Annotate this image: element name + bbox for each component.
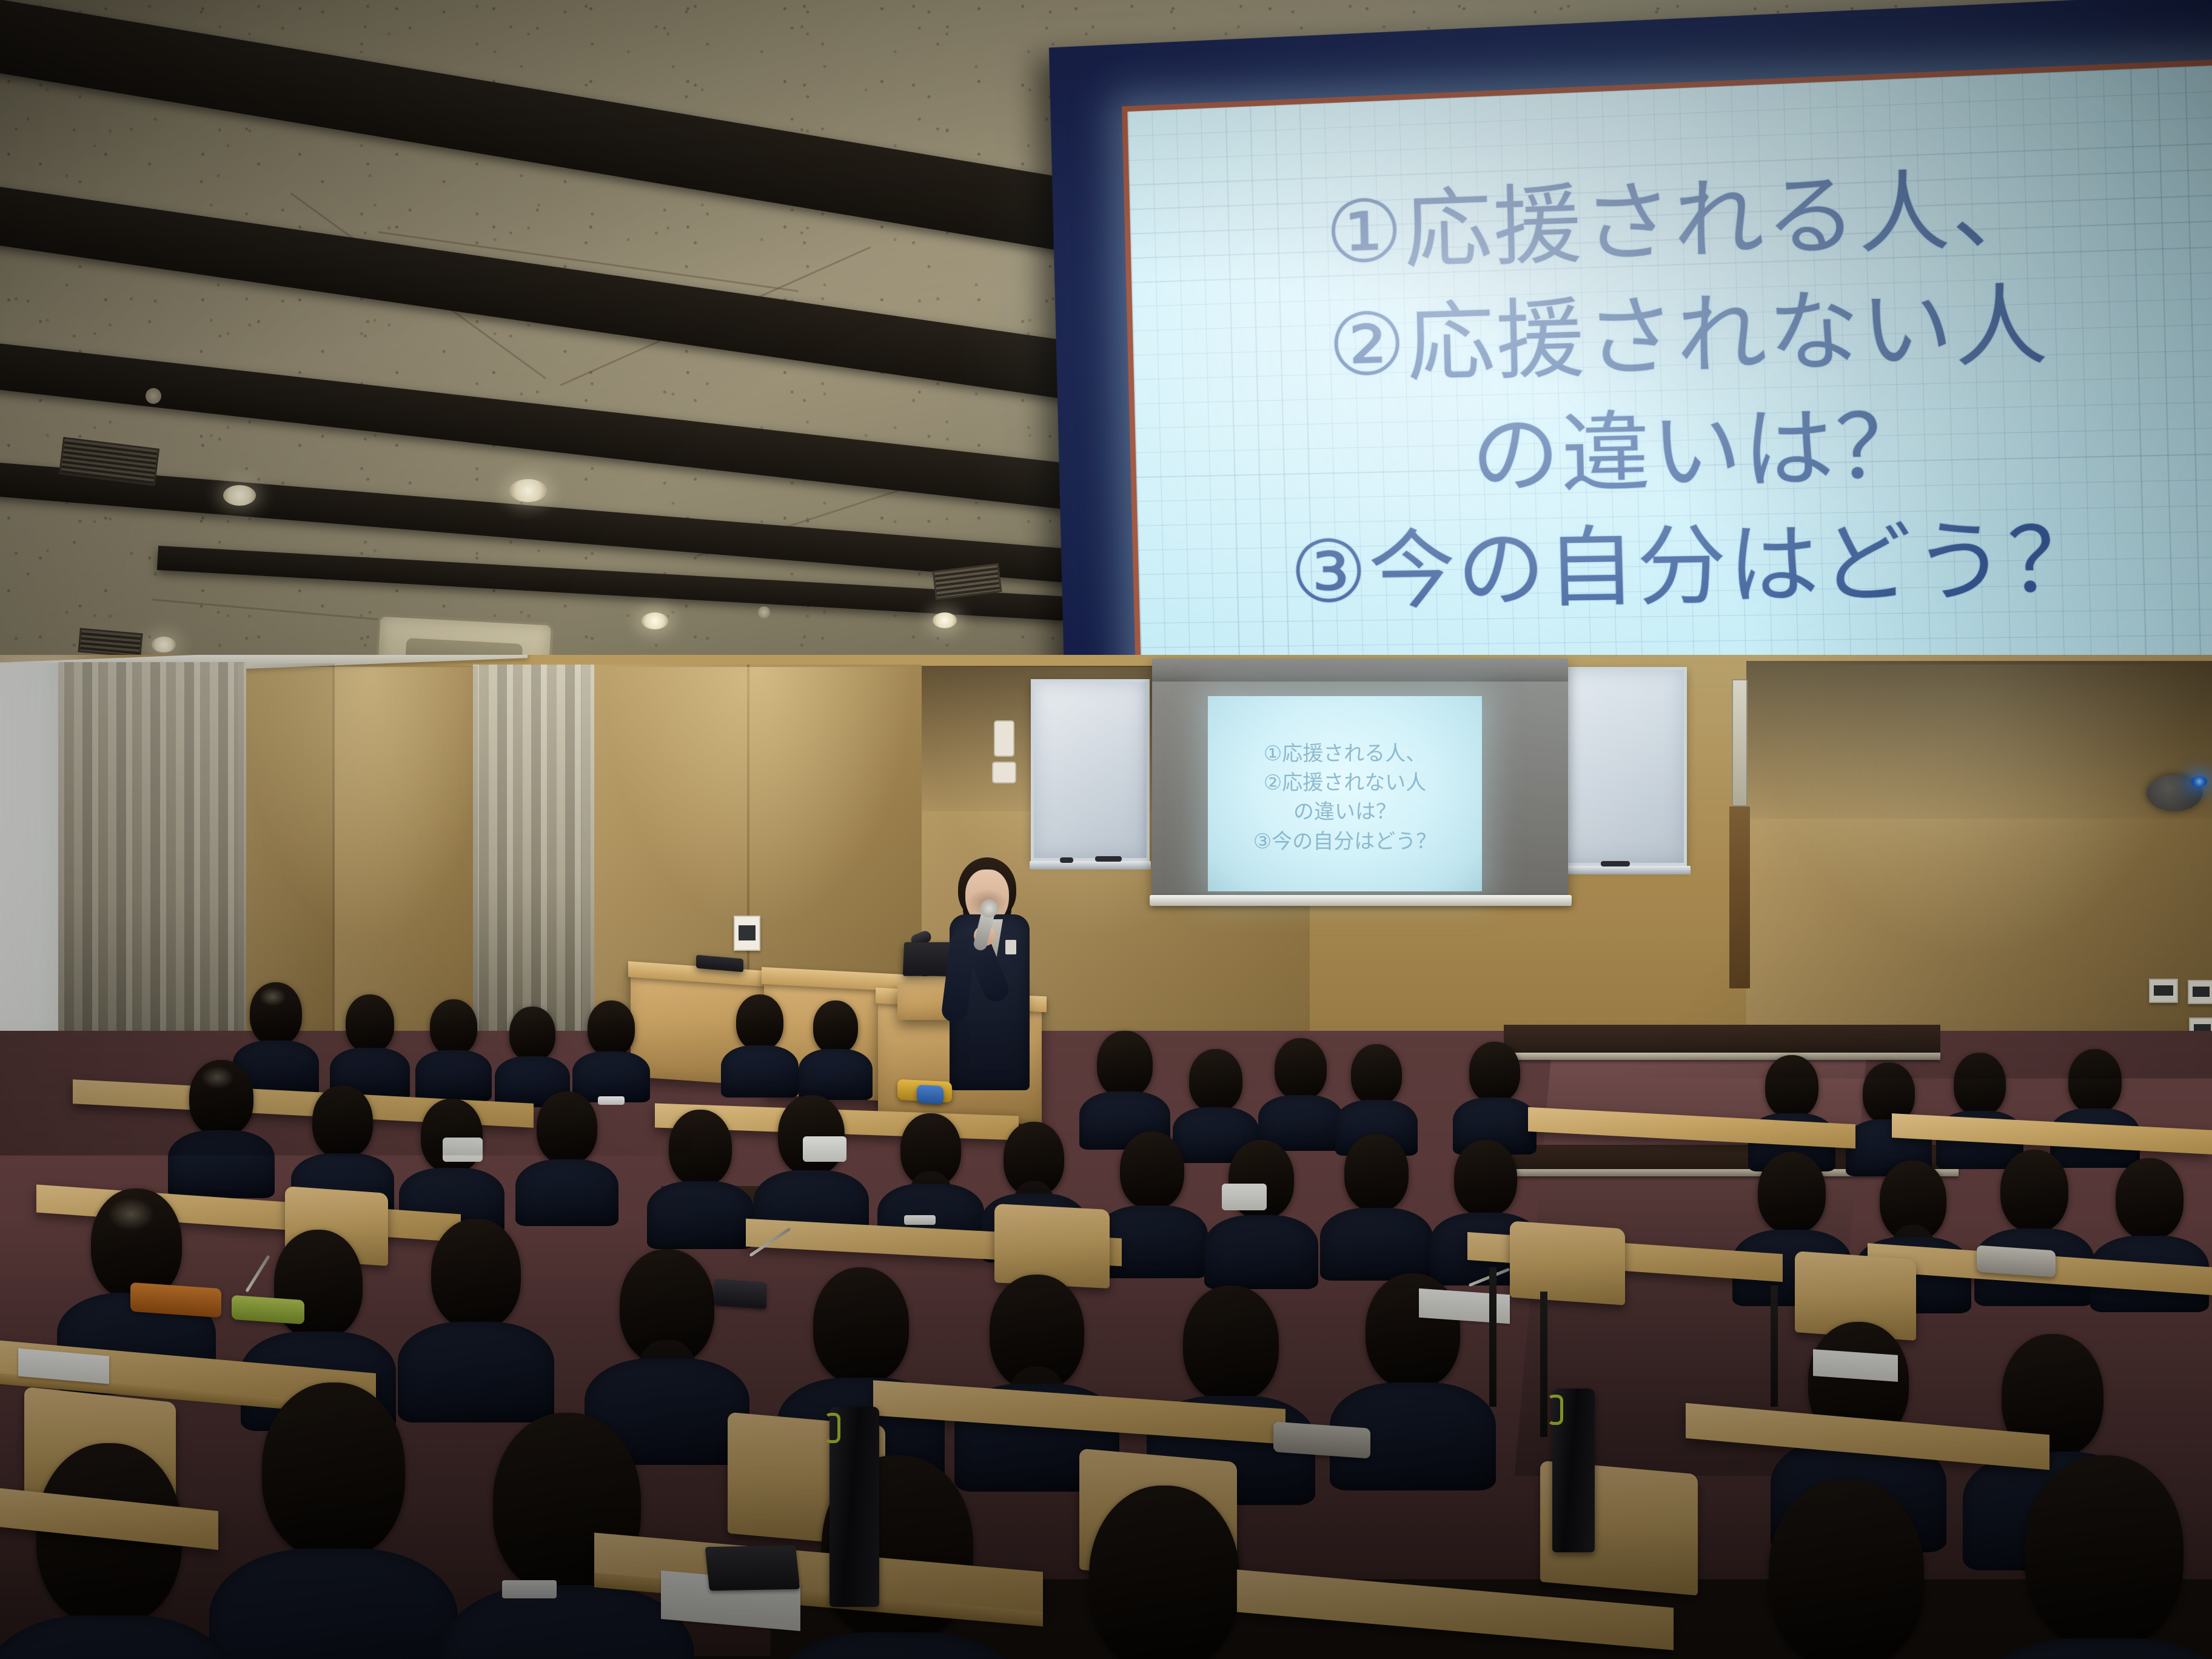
- student-head: [1769, 1480, 1924, 1659]
- student-head: [2068, 1049, 2122, 1113]
- student: [412, 1099, 491, 1220]
- wall-trim-strip: [1729, 806, 1750, 988]
- student-head: [1120, 1131, 1184, 1209]
- desk-leg: [1540, 1292, 1547, 1437]
- student: [1267, 1038, 1334, 1141]
- wall-intercom-handset[interactable]: [992, 762, 1016, 783]
- student: [1334, 1134, 1419, 1267]
- sprinkler-head: [758, 606, 770, 618]
- student-head: [2000, 1150, 2068, 1232]
- student: [340, 994, 400, 1085]
- student: [182, 1060, 261, 1181]
- ceiling-downlight: [509, 479, 547, 502]
- wall-control-plate[interactable]: [2188, 980, 2212, 1004]
- student: [661, 1110, 740, 1237]
- window-drape-left: [58, 662, 246, 1087]
- student-head: [509, 1007, 555, 1061]
- face-mask: [803, 1136, 846, 1162]
- student: [582, 1000, 640, 1091]
- lecture-hall-scene: NEC ①応援される人、 ②応援されない人 の違いは？ ③今の自分はどう？: [0, 0, 2212, 1659]
- student-collar: [502, 1580, 557, 1598]
- student-head: [1097, 1031, 1153, 1098]
- student-shoulders: [515, 1159, 618, 1226]
- face-mask: [1222, 1184, 1267, 1210]
- presenter: [947, 849, 1038, 1098]
- slide-text-block: ①応援される人、 ②応援されない人 の違いは？ ③今の自分はどう？: [1129, 141, 2212, 631]
- student-head: [1183, 1285, 1279, 1402]
- student-head: [430, 999, 477, 1055]
- student-head: [262, 1382, 405, 1558]
- desk-leg: [1489, 1267, 1496, 1407]
- student-foreground: [18, 1443, 200, 1659]
- student-head: [431, 1219, 521, 1329]
- student-shoulders: [1320, 1208, 1433, 1281]
- student-head: [1954, 1053, 2006, 1116]
- student-head: [1758, 1152, 1826, 1233]
- student-head: [669, 1110, 732, 1186]
- ceiling-downlight: [642, 612, 668, 629]
- wall-intercom[interactable]: [994, 720, 1014, 757]
- wall-control-plate[interactable]: [2149, 979, 2178, 1003]
- student-foreground: [1746, 1480, 1946, 1659]
- student-head: [1189, 1049, 1242, 1112]
- projected-slide-text: ①応援される人、 ②応援されない人 の違いは？ ③今の自分はどう？: [1208, 739, 1482, 856]
- projection-screen-surface: ①応援される人、 ②応援されない人 の違いは？ ③今の自分はどう？: [1208, 696, 1482, 891]
- student: [503, 1007, 561, 1098]
- student-head: [736, 994, 783, 1050]
- face-mask: [443, 1138, 483, 1162]
- student: [891, 1113, 970, 1241]
- proj-line-2: ②応援されない人: [1208, 768, 1482, 797]
- wall-panel-seam: [332, 666, 335, 1090]
- student-head: [813, 1000, 858, 1054]
- student-foreground: [1067, 1486, 1261, 1659]
- student-shoulders: [1966, 1638, 2212, 1659]
- proj-line-1: ①応援される人、: [1208, 739, 1482, 768]
- chair-back: [1510, 1221, 1625, 1305]
- student: [528, 1091, 606, 1213]
- student-foreground: [243, 1382, 424, 1659]
- student-head: [1344, 1134, 1409, 1212]
- student-shoulders: [799, 1049, 873, 1100]
- student-collar: [904, 1215, 936, 1225]
- student-head: [778, 1095, 845, 1175]
- water-bottle[interactable]: [829, 1407, 879, 1607]
- student: [806, 1000, 865, 1091]
- student: [424, 999, 483, 1090]
- status-led-indicator: [2191, 776, 2207, 787]
- projection-screen-housing: [1152, 659, 1568, 682]
- student-head: [588, 1000, 635, 1056]
- ceiling-downlight: [152, 637, 176, 652]
- step-nosing: [1504, 1053, 1940, 1060]
- ceiling-downlight: [223, 485, 256, 506]
- student: [79, 1188, 194, 1370]
- whiteboard-marker-tray-right: [1551, 866, 1691, 874]
- projection-screen-bottom-bar: [1150, 895, 1572, 906]
- smartphone[interactable]: [705, 1546, 800, 1591]
- student: [1343, 1044, 1410, 1147]
- pencil-case-white[interactable]: [1977, 1245, 2056, 1277]
- student-head: [1765, 1055, 1818, 1118]
- whiteboard-marker-tray-left: [1030, 861, 1151, 870]
- whiteboard-right: [1553, 667, 1687, 866]
- student-shoulders: [765, 1632, 1030, 1659]
- student-head: [1275, 1038, 1327, 1100]
- student-shoulders: [721, 1045, 799, 1098]
- student-head: [1469, 1042, 1520, 1102]
- window-drape-mid: [473, 665, 594, 1053]
- wall-speaker-strip: [1732, 679, 1748, 806]
- student-head: [1089, 1486, 1239, 1659]
- slide-line-4: ③今の自分はどう？: [1138, 498, 2212, 631]
- student: [1170, 1285, 1292, 1480]
- whiteboard-marker[interactable]: [1095, 856, 1122, 862]
- proj-line-4: ③今の自分はどう？: [1208, 827, 1482, 856]
- water-bottle[interactable]: [1552, 1389, 1595, 1552]
- student-head: [189, 1060, 253, 1136]
- student-shoulders: [647, 1181, 754, 1249]
- student-shoulders: [209, 1549, 458, 1659]
- whiteboard-marker[interactable]: [1060, 857, 1073, 863]
- student-shoulders: [1204, 1215, 1318, 1289]
- student: [606, 1249, 728, 1437]
- student-head: [312, 1085, 373, 1158]
- desk-leg: [1771, 1285, 1778, 1407]
- presenter-name-badge: [1005, 940, 1016, 954]
- student: [976, 1275, 1098, 1469]
- student: [418, 1219, 534, 1401]
- proj-line-3: の違いは？: [1208, 797, 1482, 826]
- ceiling-downlight: [933, 612, 957, 628]
- student-shoulders: [440, 1585, 694, 1659]
- sprinkler-head: [146, 388, 161, 404]
- student: [1110, 1131, 1195, 1265]
- wall-switch-plate[interactable]: [734, 916, 760, 951]
- student: [731, 994, 789, 1085]
- student-head: [2116, 1158, 2184, 1239]
- pencil-case-blue[interactable]: [917, 1085, 943, 1104]
- student-head: [250, 982, 302, 1045]
- pencil-case-green[interactable]: [232, 1295, 304, 1324]
- smartphone[interactable]: [714, 1279, 766, 1309]
- student-head: [1454, 1140, 1517, 1216]
- student: [1091, 1031, 1158, 1134]
- student: [1461, 1042, 1528, 1145]
- student-head: [2025, 1455, 2184, 1648]
- step-riser: [1504, 1025, 1940, 1056]
- student-shoulders: [415, 1050, 492, 1101]
- student-head: [537, 1091, 597, 1164]
- student: [769, 1095, 854, 1235]
- student: [1219, 1140, 1304, 1273]
- whiteboard-marker[interactable]: [1601, 861, 1630, 866]
- student-head: [1351, 1044, 1402, 1105]
- student-head: [346, 994, 394, 1053]
- student-foreground: [2001, 1455, 2207, 1659]
- whiteboard-left: [1031, 679, 1150, 861]
- student-head: [813, 1267, 909, 1384]
